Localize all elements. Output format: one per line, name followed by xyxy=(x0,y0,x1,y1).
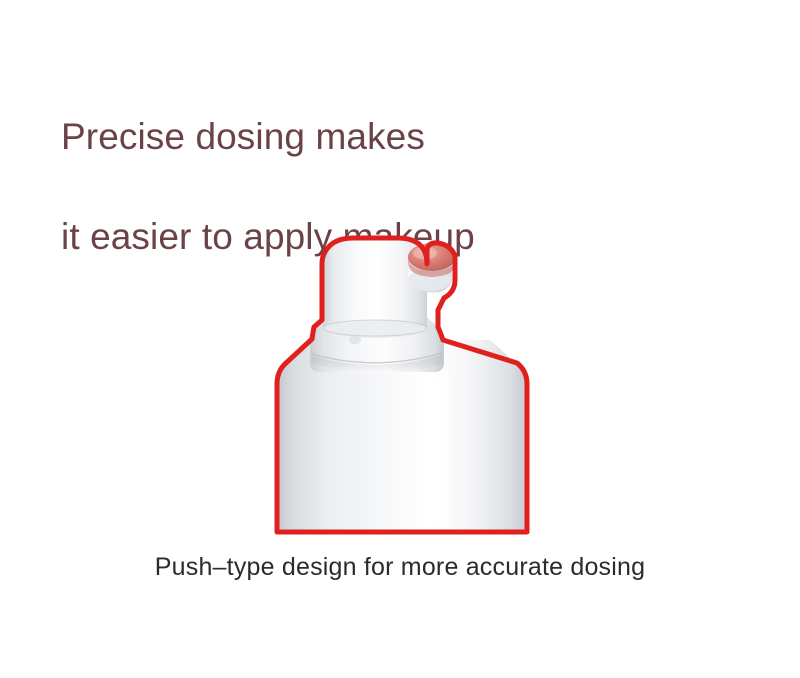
pump-bottle-illustration xyxy=(266,232,538,544)
figure-caption: Push–type design for more accurate dosin… xyxy=(0,550,800,584)
headline-line-1: Precise dosing makes xyxy=(61,112,721,162)
product-feature-slide: Precise dosing makes it easier to apply … xyxy=(0,0,800,678)
shoulder-nub xyxy=(349,336,361,344)
product-figure xyxy=(0,232,800,544)
product-image xyxy=(266,232,538,544)
body-highlight xyxy=(416,377,450,527)
